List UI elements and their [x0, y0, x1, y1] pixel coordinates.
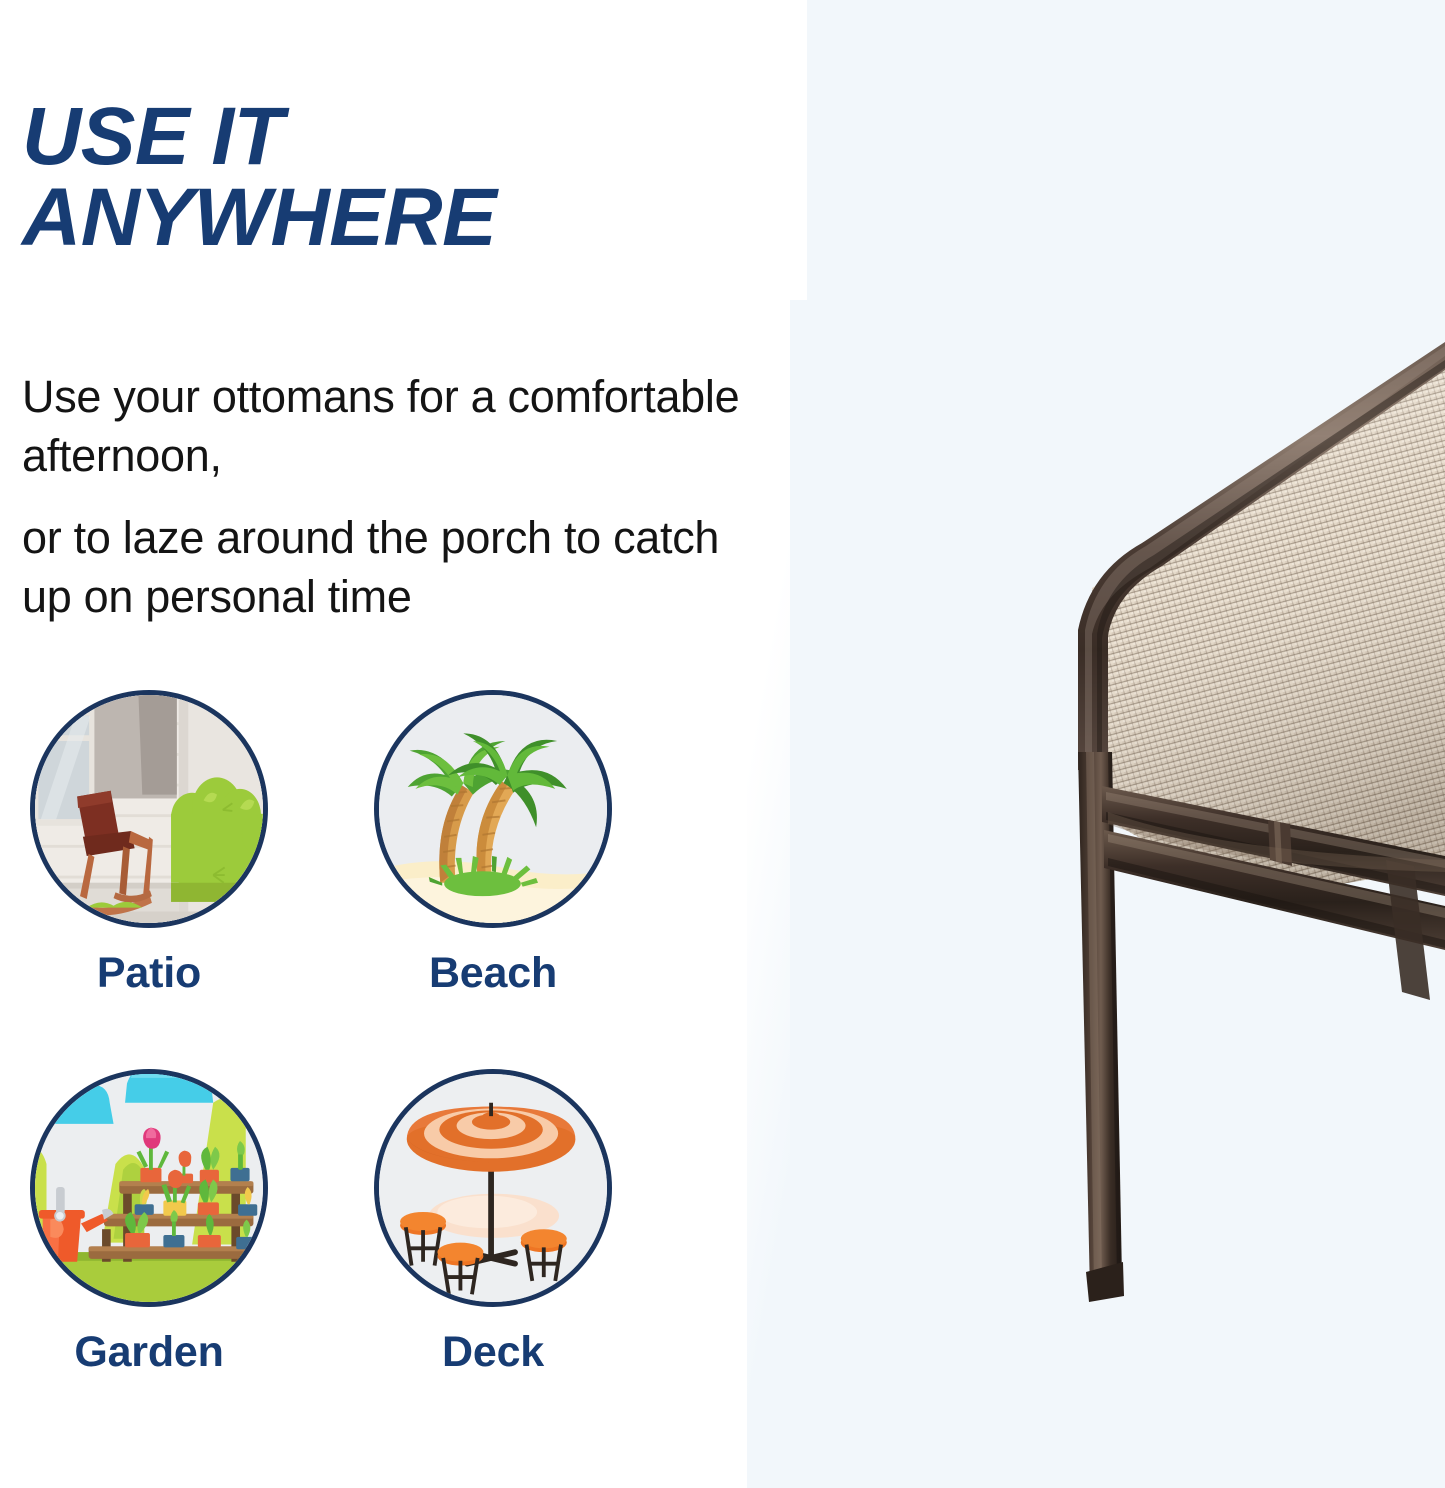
headline-line-1: USE IT — [22, 91, 283, 182]
palm-trees-icon — [374, 690, 612, 928]
use-case-label: Patio — [97, 952, 201, 995]
use-case-row-1: Patio — [30, 690, 670, 995]
headline-line-2: ANYWHERE — [22, 177, 742, 258]
use-case-label: Deck — [442, 1331, 544, 1374]
use-case-patio[interactable]: Patio — [30, 690, 268, 995]
use-case-deck[interactable]: Deck — [374, 1069, 612, 1374]
infographic-root: USE IT ANYWHERE Use your ottomans for a … — [0, 0, 1445, 1488]
use-case-label: Garden — [74, 1331, 223, 1374]
use-case-label: Beach — [429, 952, 557, 995]
plant-shelf-icon — [30, 1069, 268, 1307]
use-case-garden[interactable]: Garden — [30, 1069, 268, 1374]
body-paragraph-2: or to laze around the porch to catch up … — [22, 509, 762, 626]
product-photo — [790, 300, 1445, 1360]
patio-umbrella-table-icon — [374, 1069, 612, 1307]
page-title: USE IT ANYWHERE — [22, 96, 742, 258]
use-case-grid: Patio — [30, 690, 670, 1374]
body-paragraph-1: Use your ottomans for a comfortable afte… — [22, 368, 762, 485]
body-copy: Use your ottomans for a comfortable afte… — [22, 368, 762, 626]
use-case-row-2: Garden — [30, 1069, 670, 1374]
porch-rocking-chair-icon — [30, 690, 268, 928]
use-case-beach[interactable]: Beach — [374, 690, 612, 995]
